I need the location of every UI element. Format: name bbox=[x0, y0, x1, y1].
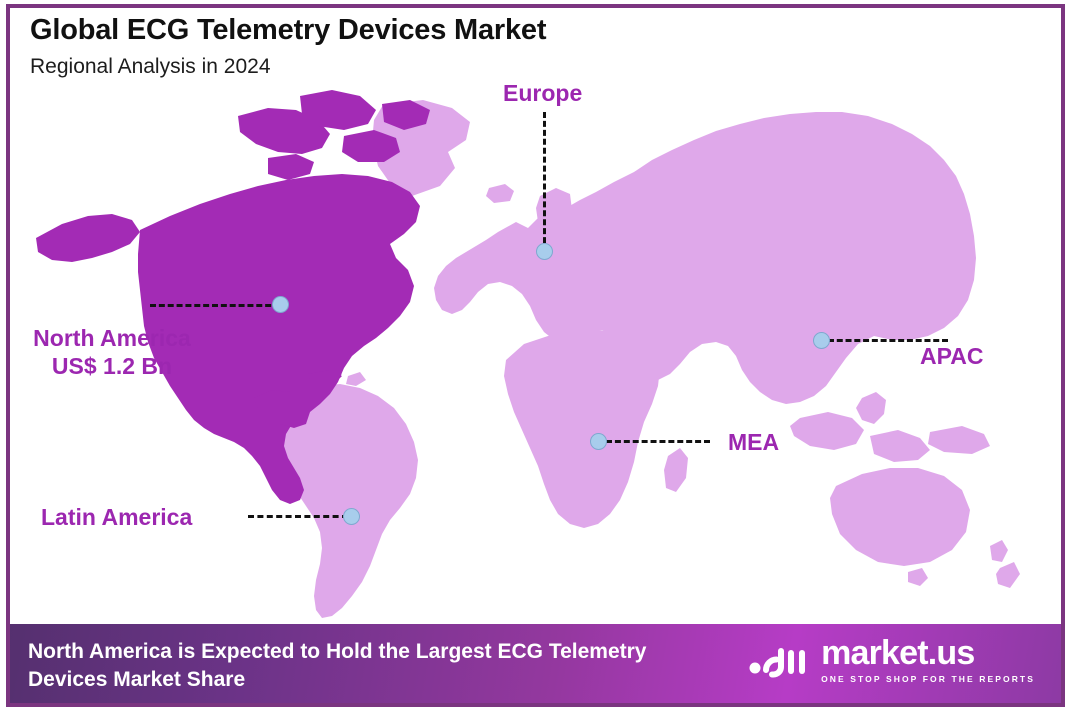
region-label-mea: MEA bbox=[728, 428, 779, 456]
page-title: Global ECG Telemetry Devices Market bbox=[30, 14, 546, 47]
region-label-apac: APAC bbox=[920, 342, 983, 370]
map-regions-other bbox=[262, 100, 1020, 618]
infographic-root: Global ECG Telemetry Devices Market Regi… bbox=[0, 0, 1071, 711]
map-marker-latin-america[interactable] bbox=[343, 508, 360, 525]
logo-tagline: ONE STOP SHOP FOR THE REPORTS bbox=[821, 674, 1035, 684]
region-label-europe: Europe bbox=[503, 79, 582, 107]
market-us-logo-icon bbox=[748, 636, 810, 684]
map-marker-apac[interactable] bbox=[813, 332, 830, 349]
leader-line-latin-america bbox=[248, 515, 348, 518]
footer-banner: North America is Expected to Hold the La… bbox=[10, 624, 1061, 703]
logo-wordmark: market.us ONE STOP SHOP FOR THE REPORTS bbox=[821, 636, 1035, 684]
region-name-north-america: North America bbox=[33, 325, 191, 351]
map-marker-mea[interactable] bbox=[590, 433, 607, 450]
logo-name: market.us bbox=[821, 636, 1035, 670]
map-marker-north-america[interactable] bbox=[272, 296, 289, 313]
leader-line-mea bbox=[606, 440, 710, 443]
region-value-north-america: US$ 1.2 Bn bbox=[17, 352, 207, 380]
page-subtitle: Regional Analysis in 2024 bbox=[30, 55, 546, 79]
banner-headline: North America is Expected to Hold the La… bbox=[28, 638, 718, 695]
header: Global ECG Telemetry Devices Market Regi… bbox=[30, 14, 546, 79]
region-label-north-america: North America US$ 1.2 Bn bbox=[17, 324, 207, 380]
leader-line-north-america bbox=[150, 304, 280, 307]
leader-line-europe bbox=[543, 112, 546, 252]
map-marker-europe[interactable] bbox=[536, 243, 553, 260]
brand-logo[interactable]: market.us ONE STOP SHOP FOR THE REPORTS bbox=[748, 636, 1035, 684]
region-label-latin-america: Latin America bbox=[41, 503, 192, 531]
